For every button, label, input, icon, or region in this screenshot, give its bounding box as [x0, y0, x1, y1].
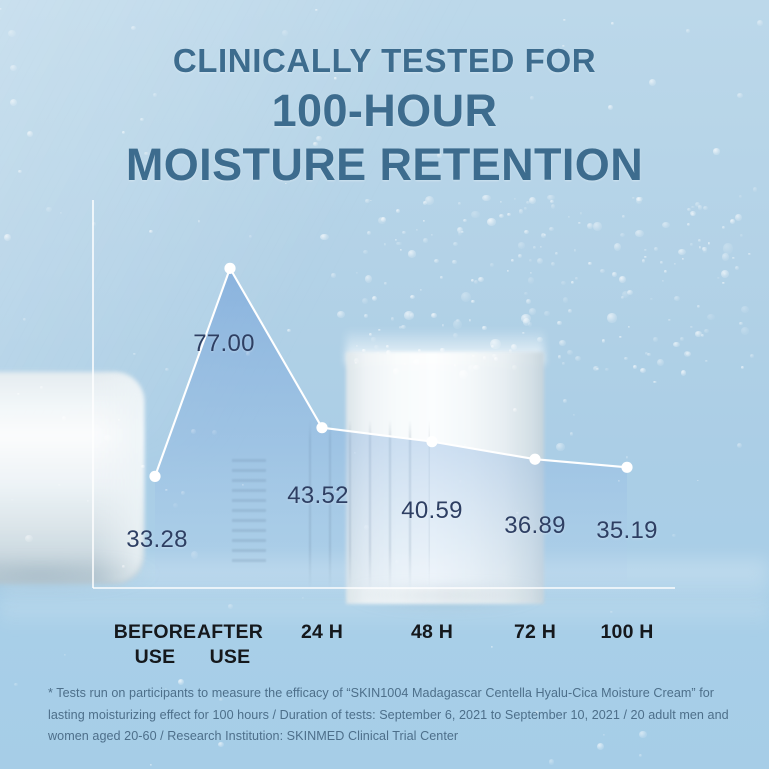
- data-value-label: 36.89: [504, 512, 566, 540]
- data-value-label: 77.00: [193, 330, 255, 358]
- x-axis-label: AFTER USE: [197, 620, 263, 670]
- x-axis-label: BEFORE USE: [114, 620, 196, 670]
- data-value-label: 33.28: [126, 526, 188, 554]
- data-point-marker[interactable]: [426, 436, 437, 447]
- x-axis-label: 24 H: [301, 620, 343, 645]
- x-axis-label: 72 H: [514, 620, 556, 645]
- data-value-label: 40.59: [401, 497, 463, 525]
- data-value-label: 43.52: [287, 482, 349, 510]
- data-point-marker[interactable]: [529, 454, 540, 465]
- data-value-label: 35.19: [596, 517, 658, 545]
- data-point-marker[interactable]: [149, 471, 160, 482]
- data-point-marker[interactable]: [621, 462, 632, 473]
- data-point-marker[interactable]: [316, 422, 327, 433]
- x-axis-label: 48 H: [411, 620, 453, 645]
- footnote: * Tests run on participants to measure t…: [48, 683, 732, 748]
- infographic-root: CLINICALLY TESTED FOR 100-HOUR MOISTURE …: [0, 0, 769, 769]
- data-point-marker[interactable]: [224, 263, 235, 274]
- x-axis-label: 100 H: [600, 620, 653, 645]
